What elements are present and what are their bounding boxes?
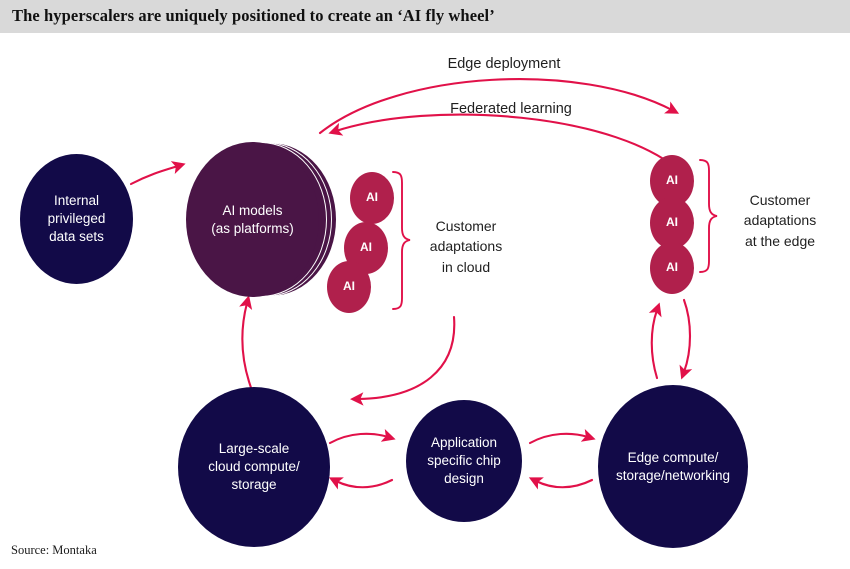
node-label: Large-scale cloud compute/ storage bbox=[208, 440, 300, 493]
ai-bubble-edge-3[interactable]: AI bbox=[650, 242, 694, 294]
node-application-specific-chip-design[interactable]: Application specific chip design bbox=[406, 400, 522, 522]
node-edge-compute-storage-networking[interactable]: Edge compute/ storage/networking bbox=[598, 385, 748, 548]
ai-bubble-label: AI bbox=[666, 215, 678, 231]
node-label: Application specific chip design bbox=[427, 434, 501, 487]
ai-bubble-cloud-3[interactable]: AI bbox=[327, 261, 371, 313]
arrow-chip-to-edge bbox=[530, 434, 588, 443]
label-customer-adaptations-in-cloud: Customer adaptations in cloud bbox=[414, 216, 518, 277]
arrow-federated-learning bbox=[336, 115, 684, 175]
arrow-ai-bubbles-to-edge bbox=[684, 300, 690, 372]
arrow-edge-to-ai-bubbles bbox=[652, 310, 657, 378]
ai-bubble-label: AI bbox=[666, 260, 678, 276]
arrow-adaptations-to-cloud bbox=[358, 317, 454, 399]
ai-bubble-cloud-1[interactable]: AI bbox=[350, 172, 394, 224]
arrow-chip-to-cloud bbox=[336, 480, 392, 487]
node-internal-privileged-data-sets[interactable]: Internal privileged data sets bbox=[20, 154, 133, 284]
ai-bubble-label: AI bbox=[666, 173, 678, 189]
ai-bubble-label: AI bbox=[366, 190, 378, 206]
arrow-edge-to-chip bbox=[536, 480, 592, 487]
diagram-canvas: The hyperscalers are uniquely positioned… bbox=[0, 0, 850, 569]
node-label: AI models (as platforms) bbox=[211, 202, 294, 238]
label-customer-adaptations-at-the-edge: Customer adaptations at the edge bbox=[728, 190, 832, 251]
node-large-scale-cloud-compute-storage[interactable]: Large-scale cloud compute/ storage bbox=[178, 387, 330, 547]
ai-bubble-label: AI bbox=[360, 240, 372, 256]
source-note: Source: Montaka bbox=[11, 543, 97, 558]
arrow-internal-to-models bbox=[131, 166, 178, 184]
node-ai-models-as-platforms[interactable]: AI models (as platforms) bbox=[186, 142, 319, 297]
label-edge-deployment: Edge deployment bbox=[424, 54, 584, 75]
arrow-cloud-to-models bbox=[242, 303, 253, 393]
brace-edge-adaptations bbox=[700, 160, 717, 272]
ai-bubble-label: AI bbox=[343, 279, 355, 295]
brace-cloud-adaptations bbox=[393, 172, 410, 309]
node-label: Internal privileged data sets bbox=[48, 192, 106, 245]
label-federated-learning: Federated learning bbox=[426, 99, 596, 120]
arrow-cloud-to-chip bbox=[330, 434, 388, 443]
node-label: Edge compute/ storage/networking bbox=[616, 449, 730, 485]
